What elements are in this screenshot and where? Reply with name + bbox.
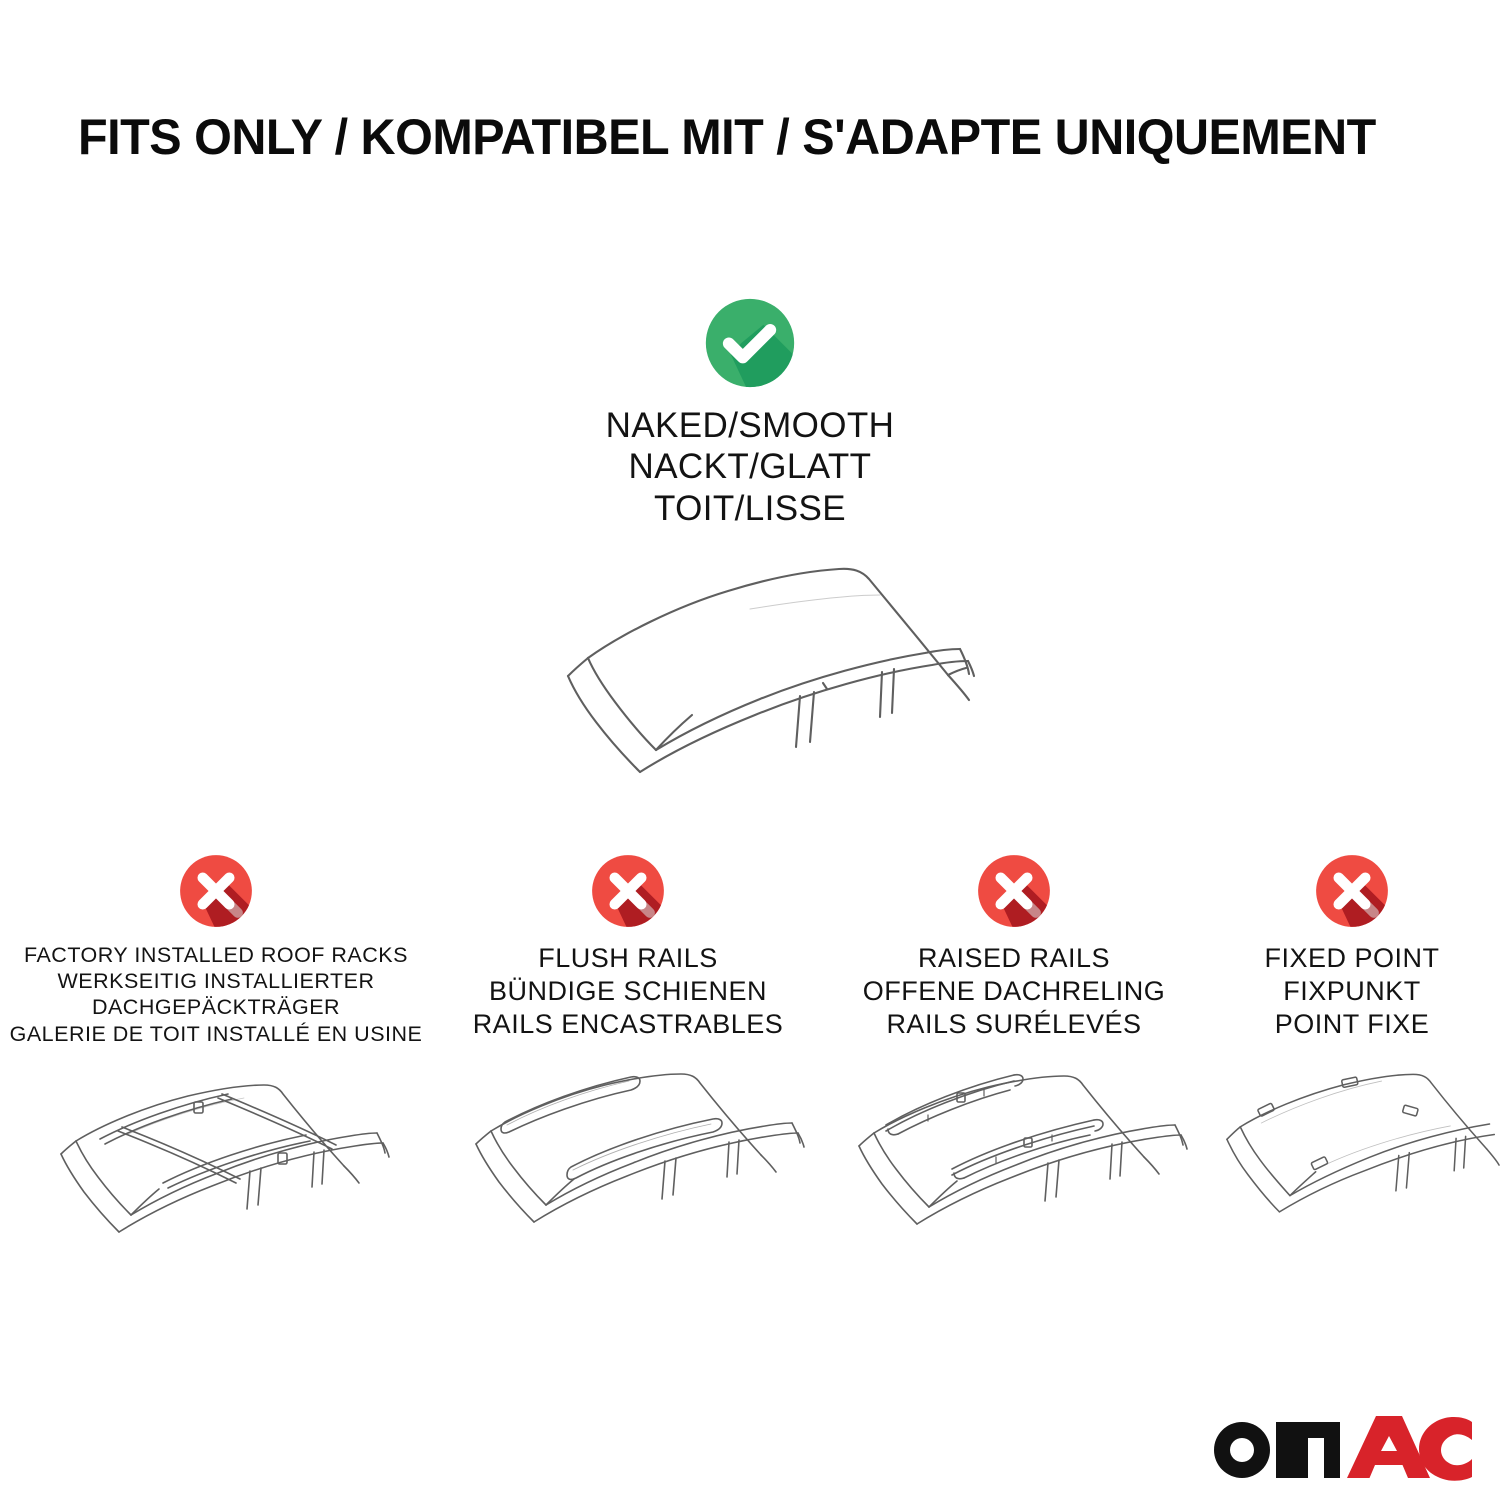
label-line-de: NACKT/GLATT [606,446,895,487]
label-line-en: FACTORY INSTALLED ROOF RACKS [10,942,423,968]
logo-letter-a [1347,1416,1430,1478]
label-line-fr: TOIT/LISSE [606,488,895,529]
label-line-de: FIXPUNKT [1264,975,1439,1008]
check-circle-icon [702,295,798,391]
incompatible-labels: FLUSH RAILS BÜNDIGE SCHIENEN RAILS ENCAS… [473,942,784,1041]
incompatible-item-fixed-point: FIXED POINT FIXPUNKT POINT FIXE [1204,852,1500,1274]
car-roof-flush-rails-illustration [432,1059,824,1274]
cross-circle-icon [177,852,255,930]
incompatible-labels: RAISED RAILS OFFENE DACHRELING RAILS SUR… [863,942,1166,1041]
car-roof-fixed-point-illustration [1204,1059,1500,1274]
compatible-roof-type-block: NAKED/SMOOTH NACKT/GLATT TOIT/LISSE [0,295,1500,799]
label-line-en: RAISED RAILS [863,942,1166,975]
label-line-de-2: DACHGEPÄCKTRÄGER [10,994,423,1020]
label-line-en: FIXED POINT [1264,942,1439,975]
incompatible-labels: FIXED POINT FIXPUNKT POINT FIXE [1264,942,1439,1041]
label-line-en: FLUSH RAILS [473,942,784,975]
logo-letter-c [1419,1417,1472,1481]
incompatible-labels: FACTORY INSTALLED ROOF RACKS WERKSEITIG … [10,942,423,1047]
logo-letter-m [1276,1422,1340,1478]
label-line-fr: RAILS SURÉLEVÉS [863,1008,1166,1041]
logo-letter-o [1214,1422,1270,1478]
car-roof-naked-smooth-illustration [470,539,1030,799]
label-line-de-1: WERKSEITIG INSTALLIERTER [10,968,423,994]
label-line-fr: RAILS ENCASTRABLES [473,1008,784,1041]
page-title: FITS ONLY / KOMPATIBEL MIT / S'ADAPTE UN… [78,108,1376,166]
car-roof-factory-racks-illustration [0,1065,432,1280]
label-line-fr: GALERIE DE TOIT INSTALLÉ EN USINE [10,1021,423,1047]
incompatible-item-factory-installed-roof-racks: FACTORY INSTALLED ROOF RACKS WERKSEITIG … [0,852,432,1280]
cross-circle-icon [589,852,667,930]
cross-circle-icon [975,852,1053,930]
label-line-en: NAKED/SMOOTH [606,405,895,446]
incompatible-item-flush-rails: FLUSH RAILS BÜNDIGE SCHIENEN RAILS ENCAS… [432,852,824,1274]
label-line-fr: POINT FIXE [1264,1008,1439,1041]
incompatible-item-raised-rails: RAISED RAILS OFFENE DACHRELING RAILS SUR… [824,852,1204,1274]
cross-circle-icon [1313,852,1391,930]
car-roof-raised-rails-illustration [824,1059,1204,1274]
compatible-roof-type-labels: NAKED/SMOOTH NACKT/GLATT TOIT/LISSE [606,405,895,529]
incompatible-roof-types-row: FACTORY INSTALLED ROOF RACKS WERKSEITIG … [0,852,1500,1280]
label-line-de: OFFENE DACHRELING [863,975,1166,1008]
label-line-de: BÜNDIGE SCHIENEN [473,975,784,1008]
omac-logo [1206,1410,1478,1484]
